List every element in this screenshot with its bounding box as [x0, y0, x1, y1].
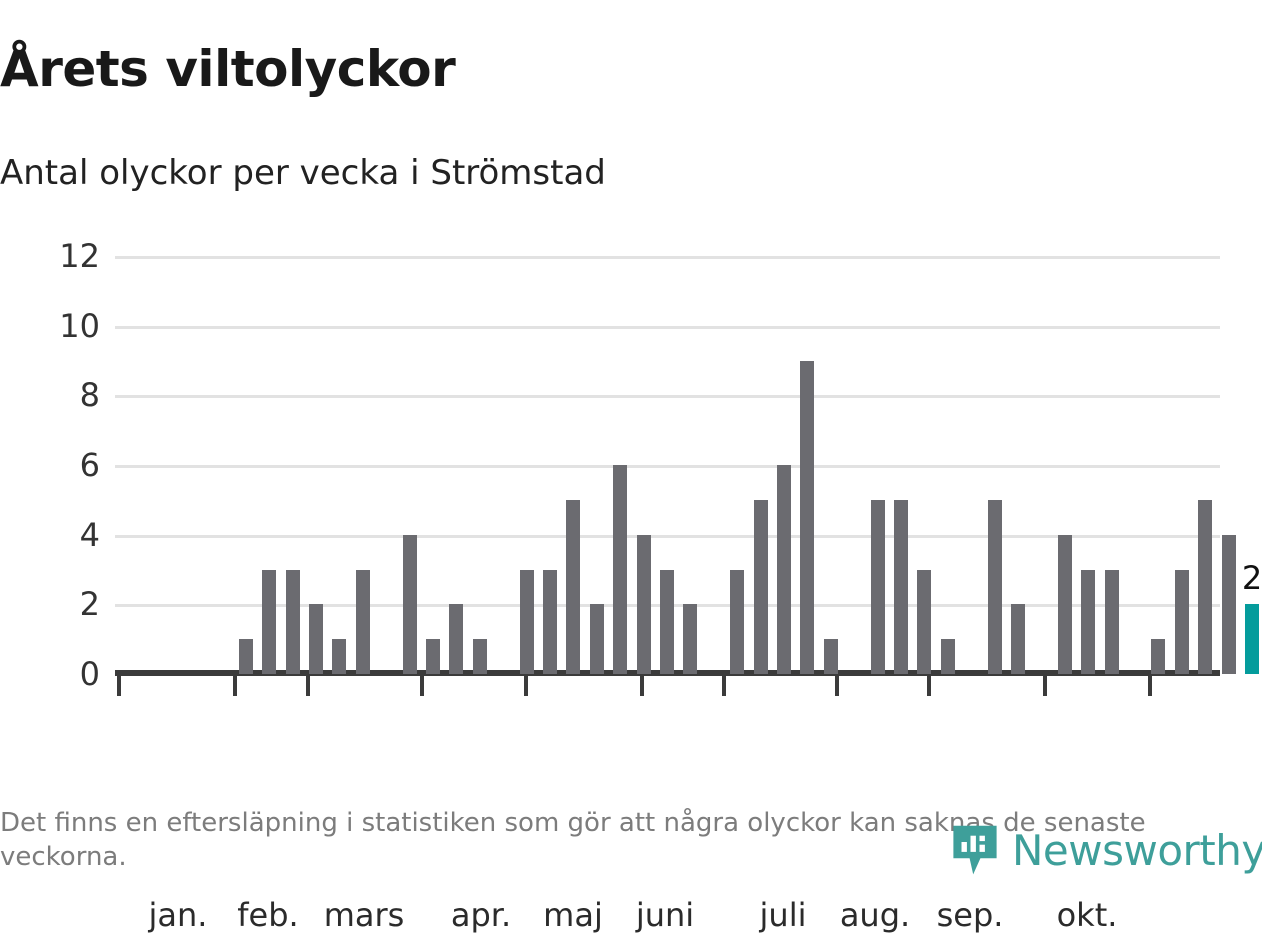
- bar[interactable]: [917, 570, 931, 675]
- bar[interactable]: [660, 570, 674, 675]
- bar[interactable]: [356, 570, 370, 675]
- bar-value-label: 2: [1242, 562, 1262, 594]
- bar[interactable]: [473, 639, 487, 674]
- bar[interactable]: [683, 604, 697, 674]
- bar[interactable]: [286, 570, 300, 675]
- x-tick-mark: [927, 676, 931, 696]
- bar[interactable]: [1105, 570, 1119, 675]
- bar[interactable]: [777, 465, 791, 674]
- bar[interactable]: [449, 604, 463, 674]
- bar[interactable]: [730, 570, 744, 675]
- bar[interactable]: [894, 500, 908, 674]
- bar[interactable]: [754, 500, 768, 674]
- bar[interactable]: [1198, 500, 1212, 674]
- x-axis-month-label: juni: [636, 896, 694, 934]
- x-tick-mark: [640, 676, 644, 696]
- chart-page: Årets viltolyckor Antal olyckor per veck…: [0, 0, 1262, 879]
- bar[interactable]: [262, 570, 276, 675]
- y-tick-label: 4: [0, 519, 100, 551]
- bar[interactable]: [1058, 535, 1072, 674]
- y-tick-label: 2: [0, 588, 100, 620]
- bar[interactable]: [988, 500, 1002, 674]
- x-tick-mark: [420, 676, 424, 696]
- bar[interactable]: [590, 604, 604, 674]
- y-tick-label: 10: [0, 310, 100, 342]
- y-tick-label: 0: [0, 658, 100, 690]
- x-tick-mark: [722, 676, 726, 696]
- x-tick-mark: [233, 676, 237, 696]
- bar[interactable]: [403, 535, 417, 674]
- bar[interactable]: [613, 465, 627, 674]
- x-tick-mark: [1043, 676, 1047, 696]
- y-tick-label: 12: [0, 240, 100, 272]
- x-axis-month-label: juli: [760, 896, 807, 934]
- bar[interactable]: [1222, 535, 1236, 674]
- newsworthy-logo[interactable]: Newsworthy: [948, 824, 1262, 878]
- bar[interactable]: [1151, 639, 1165, 674]
- bar[interactable]: [1011, 604, 1025, 674]
- y-tick-label: 6: [0, 449, 100, 481]
- x-axis-month-label: feb.: [237, 896, 298, 934]
- bar[interactable]: [309, 604, 323, 674]
- x-axis-month-label: apr.: [451, 896, 511, 934]
- bar[interactable]: [637, 535, 651, 674]
- x-axis-month-label: jan.: [149, 896, 208, 934]
- x-axis-month-label: mars: [324, 896, 405, 934]
- bar-highlighted[interactable]: [1245, 604, 1259, 674]
- chart-subtitle: Antal olyckor per vecka i Strömstad: [0, 155, 606, 192]
- page-title: Årets viltolyckor: [0, 42, 455, 97]
- x-axis-month-label: maj: [543, 896, 603, 934]
- bar[interactable]: [871, 500, 885, 674]
- x-tick-mark: [524, 676, 528, 696]
- bar[interactable]: [1081, 570, 1095, 675]
- x-axis-month-label: aug.: [840, 896, 910, 934]
- bar[interactable]: [1175, 570, 1189, 675]
- bar-chart: 024681012 2 jan.feb.marsapr.majjunijulia…: [0, 236, 1262, 716]
- x-tick-mark: [1148, 676, 1152, 696]
- bar[interactable]: [566, 500, 580, 674]
- bar[interactable]: [520, 570, 534, 675]
- bar[interactable]: [941, 639, 955, 674]
- bar[interactable]: [426, 639, 440, 674]
- y-tick-label: 8: [0, 379, 100, 411]
- bar-chart-speech-bubble-icon: [948, 824, 1002, 878]
- bar[interactable]: [800, 361, 814, 675]
- x-tick-mark: [835, 676, 839, 696]
- logo-wordmark: Newsworthy: [1012, 830, 1262, 872]
- bar[interactable]: [332, 639, 346, 674]
- bar-series: 2: [115, 256, 1220, 674]
- x-tick-mark: [306, 676, 310, 696]
- bar[interactable]: [543, 570, 557, 675]
- bar[interactable]: [824, 639, 838, 674]
- x-axis-month-label: okt.: [1057, 896, 1118, 934]
- x-axis-month-label: sep.: [937, 896, 1004, 934]
- x-tick-mark: [117, 676, 121, 696]
- bar[interactable]: [239, 639, 253, 674]
